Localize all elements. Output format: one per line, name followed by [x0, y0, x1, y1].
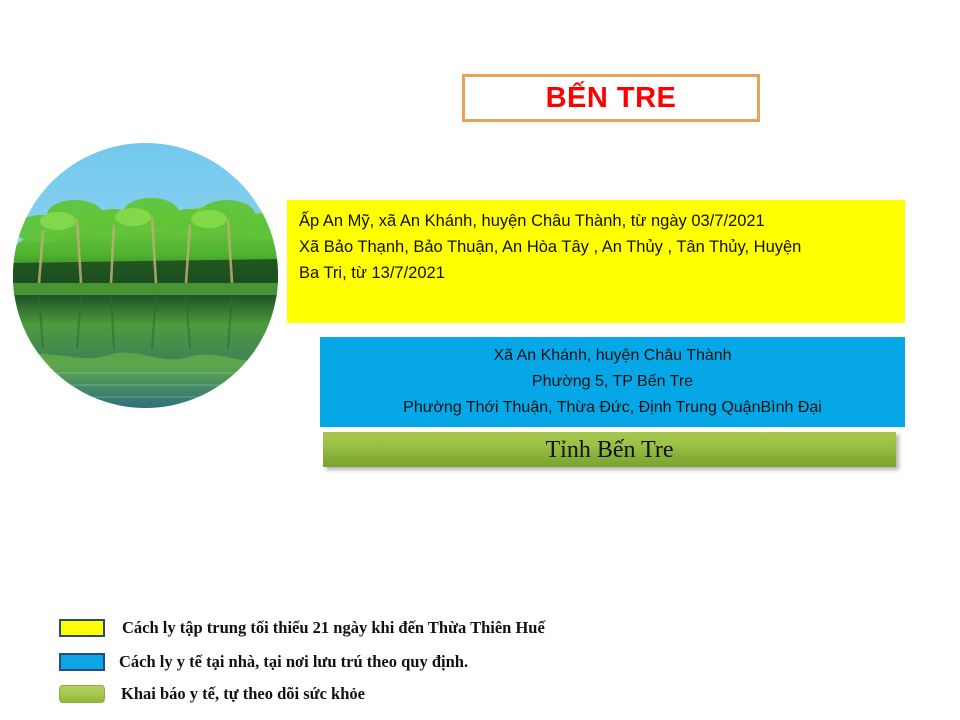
coconut-river-photo	[13, 143, 278, 408]
legend-swatch-blue-icon	[59, 653, 105, 671]
slide-canvas: BẾN TRE	[0, 0, 960, 720]
legend-label-green: Khai báo y tế, tự theo dõi sức khỏe	[121, 684, 365, 704]
blue-zone-box: Xã An Khánh, huyện Châu Thành Phường 5, …	[320, 337, 905, 427]
legend-item-blue: Cách ly y tế tại nhà, tại nơi lưu trú th…	[59, 652, 468, 672]
province-name-label: Tỉnh Bến Tre	[545, 438, 673, 462]
legend-label-yellow: Cách ly tập trung tối thiểu 21 ngày khi …	[122, 618, 545, 638]
legend-label-blue: Cách ly y tế tại nhà, tại nơi lưu trú th…	[119, 652, 468, 672]
yellow-zone-line-2: Xã Bảo Thạnh, Bảo Thuận, An Hòa Tây , An…	[299, 234, 895, 260]
blue-zone-line-1: Xã An Khánh, huyện Châu Thành	[320, 343, 905, 369]
yellow-zone-line-3: Ba Tri, từ 13/7/2021	[299, 260, 895, 286]
legend-item-green: Khai báo y tế, tự theo dõi sức khỏe	[59, 684, 365, 704]
legend-swatch-green-icon	[59, 685, 105, 703]
province-title-box: BẾN TRE	[462, 74, 760, 122]
legend-swatch-yellow-icon	[59, 619, 105, 637]
yellow-zone-box: Ấp An Mỹ, xã An Khánh, huyện Châu Thành,…	[287, 200, 905, 323]
blue-zone-line-2: Phường 5, TP Bến Tre	[320, 369, 905, 395]
yellow-zone-line-1: Ấp An Mỹ, xã An Khánh, huyện Châu Thành,…	[299, 208, 895, 234]
province-name-banner: Tỉnh Bến Tre	[323, 432, 896, 467]
province-photo-circle	[13, 143, 278, 408]
page-title: BẾN TRE	[546, 84, 677, 113]
legend-item-yellow: Cách ly tập trung tối thiểu 21 ngày khi …	[59, 618, 545, 638]
blue-zone-line-3: Phường Thới Thuận, Thừa Đức, Định Trung …	[320, 395, 905, 421]
